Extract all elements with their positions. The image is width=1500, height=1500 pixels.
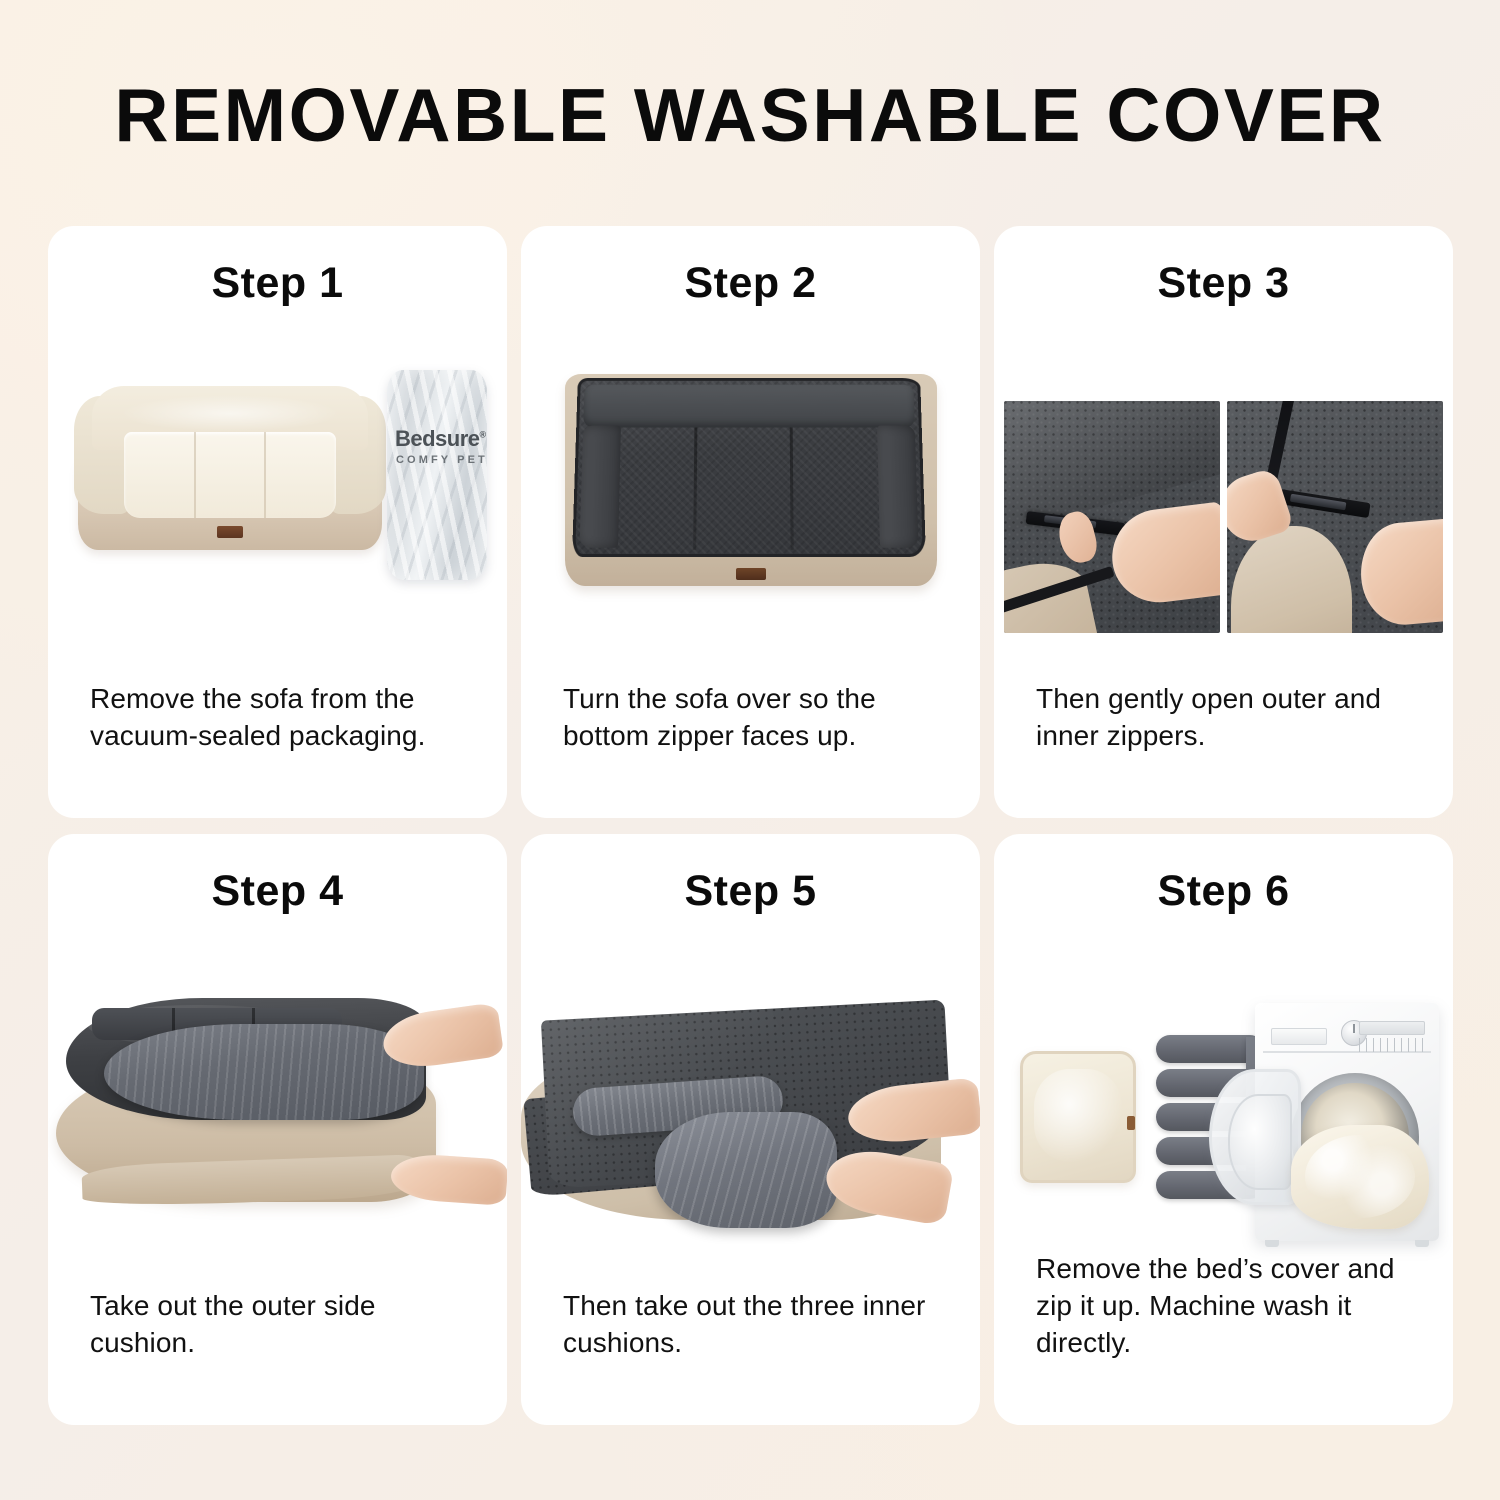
flipped-sofa-graphic xyxy=(565,374,937,586)
cushion-seam xyxy=(264,432,266,518)
step-3-title: Step 3 xyxy=(994,262,1453,305)
sofa-bed-graphic xyxy=(74,386,386,558)
step-1-title: Step 1 xyxy=(48,262,507,305)
steps-grid: Step 1 Bedsure® C xyxy=(48,226,1453,1425)
removed-bed-cover xyxy=(1020,1051,1136,1183)
hand-lower xyxy=(390,1152,507,1206)
program-ticks xyxy=(1359,1038,1425,1052)
step-1-caption: Remove the sofa from the vacuum-sealed p… xyxy=(90,680,481,754)
package-tagline: COMFY PET xyxy=(396,454,487,466)
step-6-caption: Remove the bed’s cover and zip it up. Ma… xyxy=(1036,1250,1427,1361)
bed-sherpa-cushion xyxy=(124,432,336,518)
panel-seam xyxy=(693,427,697,549)
step-5-caption: Then take out the three inner cushions. xyxy=(563,1287,946,1361)
step-card-1: Step 1 Bedsure® C xyxy=(48,226,507,818)
bottom-zipper-panel xyxy=(572,378,926,557)
step-3-caption: Then gently open outer and inner zippers… xyxy=(1036,680,1427,754)
step-5-illustration xyxy=(521,994,980,1274)
washing-machine xyxy=(1255,1003,1439,1241)
step-4-illustration xyxy=(48,984,507,1274)
sherpa-laundry xyxy=(1291,1125,1429,1229)
panel-seam xyxy=(790,427,794,549)
step-6-title: Step 6 xyxy=(994,870,1453,913)
step-card-5: Step 5 Then take out the three inner cus… xyxy=(521,834,980,1426)
step-2-caption: Turn the sofa over so the bottom zipper … xyxy=(563,680,954,754)
washer-door-open xyxy=(1209,1069,1301,1205)
inner-cushion-being-removed xyxy=(655,1112,837,1228)
step-2-illustration xyxy=(521,366,980,666)
cover-tag xyxy=(1127,1116,1135,1130)
registered-mark-icon: ® xyxy=(480,430,486,440)
page-title: REMOVABLE WASHABLE COVER xyxy=(0,78,1500,153)
step-4-caption: Take out the outer side cushion. xyxy=(90,1287,481,1361)
outer-side-cushion xyxy=(104,1024,424,1120)
display-screen xyxy=(1359,1021,1425,1035)
step-1-illustration: Bedsure® COMFY PET xyxy=(48,366,507,666)
step-card-6: Step 6 xyxy=(994,834,1453,1426)
washer-foot xyxy=(1265,1240,1279,1247)
step-5-title: Step 5 xyxy=(521,870,980,913)
step-4-title: Step 4 xyxy=(48,870,507,913)
package-brand-label: Bedsure® xyxy=(395,426,486,452)
bed-side-left xyxy=(579,426,621,548)
washer-foot xyxy=(1415,1240,1429,1247)
step-card-4: Step 4 Take out the outer side cushion. xyxy=(48,834,507,1426)
brand-leather-tag xyxy=(217,526,243,538)
bed-side-right xyxy=(877,426,919,548)
step-card-3: Step 3 xyxy=(994,226,1453,818)
cushion-seam xyxy=(194,432,196,518)
step-card-2: Step 2 Turn the sofa over so the bottom … xyxy=(521,226,980,818)
detergent-drawer xyxy=(1271,1028,1327,1045)
control-panel xyxy=(1263,1013,1431,1053)
outer-zipper-photo xyxy=(1004,401,1220,633)
step-2-title: Step 2 xyxy=(521,262,980,305)
washer-brand-label xyxy=(1273,1017,1275,1023)
package-brand-text: Bedsure xyxy=(395,426,480,451)
step-3-illustration xyxy=(1004,401,1443,633)
vacuum-sealed-package: Bedsure® COMFY PET xyxy=(387,370,487,580)
step-6-illustration xyxy=(994,979,1453,1269)
inner-zipper-photo xyxy=(1227,401,1443,633)
infographic-page: REMOVABLE WASHABLE COVER Step 1 xyxy=(0,0,1500,1500)
bed-top-bolster xyxy=(583,385,915,428)
brand-leather-tag xyxy=(736,568,766,580)
